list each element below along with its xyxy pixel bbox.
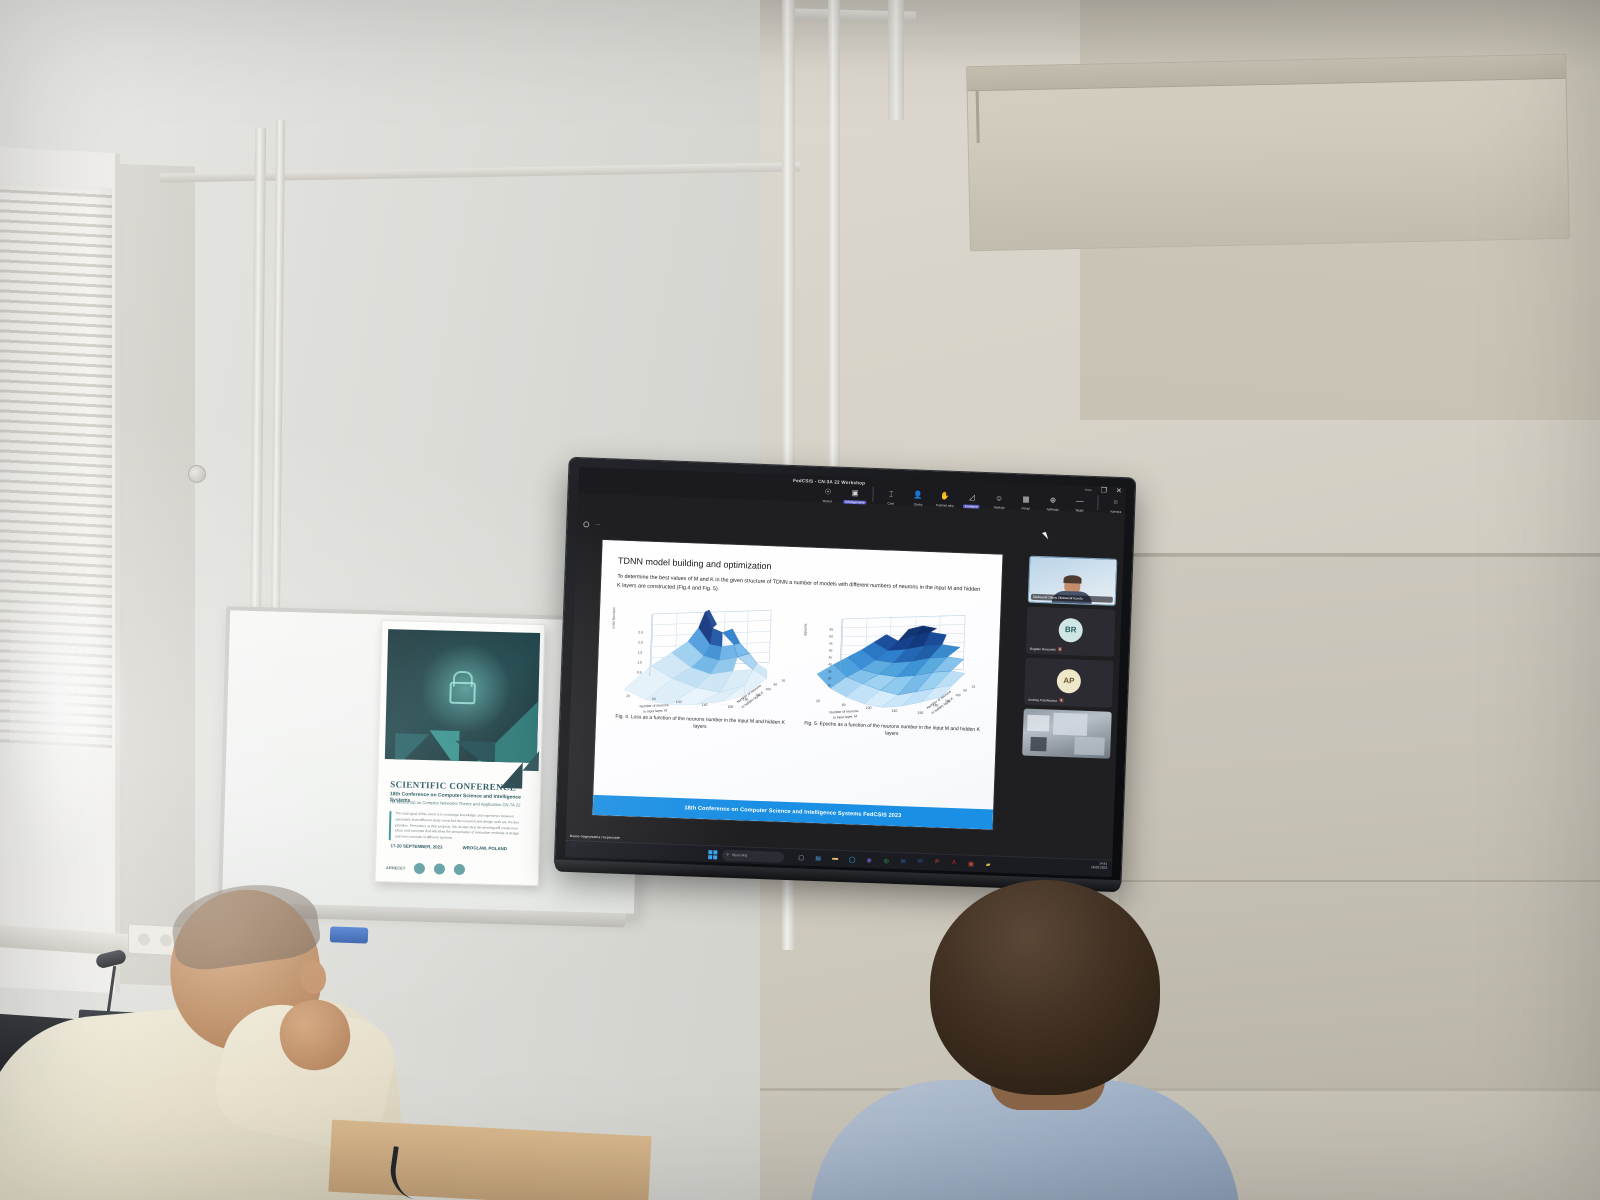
more-icon: ▦ — [1020, 494, 1031, 505]
svg-text:40: 40 — [828, 662, 832, 666]
svg-text:25: 25 — [827, 683, 831, 687]
epochs-surface-svg: 65 60 55 50 45 40 35 30 — [801, 601, 987, 726]
conference-poster: SCIENTIFIC CONFERENCE 18th Conference on… — [375, 620, 546, 886]
participant-name-bar: Bogdan Rusowski 🔇 — [1028, 645, 1112, 655]
svg-text:55: 55 — [829, 641, 833, 645]
participant-rail: Oleksandr Olexiy Oleksandr Kondo BR Bogd… — [1022, 556, 1117, 759]
svg-text:in input layer, M: in input layer, M — [833, 714, 857, 719]
participant-name: Bogdan Rusowski — [1030, 646, 1056, 651]
start-button-icon[interactable] — [708, 850, 717, 859]
wall-seam — [1118, 553, 1600, 556]
participant-tile-4[interactable] — [1022, 709, 1112, 759]
roller-blind-pull-cord — [976, 91, 980, 143]
tv-screen: FedCSIS - CN-3A 22 Workshop — ❐ ✕ ☉ Wyci… — [565, 467, 1126, 877]
poster-triangle — [455, 741, 496, 763]
svg-text:100: 100 — [676, 700, 682, 704]
mic-off-icon: 🔇 — [1057, 647, 1062, 652]
poster-triangle-outer — [523, 751, 540, 771]
folder-icon[interactable]: ▰ — [983, 859, 993, 869]
window-daylight-glow — [10, 600, 130, 860]
chrome-icon[interactable]: ◎ — [881, 855, 891, 865]
participant-name: Andrzej Paszkiewicz — [1028, 697, 1057, 702]
svg-text:60: 60 — [963, 688, 967, 692]
acrobat-icon[interactable]: A — [949, 858, 959, 868]
poster-logo-mark-3 — [434, 863, 445, 874]
notes-icon: — — [1074, 496, 1085, 507]
svg-text:1.0: 1.0 — [637, 660, 642, 664]
apps-icon: ⊕ — [1047, 495, 1058, 506]
person-seated-right — [820, 880, 1240, 1200]
rooms-icon: ◿ — [966, 492, 977, 503]
conduit-box — [888, 0, 904, 120]
lock-icon — [449, 682, 476, 705]
minimize-icon[interactable]: — — [1085, 487, 1092, 494]
svg-text:100: 100 — [765, 687, 771, 691]
poster-body-text: The main goal of this event is to exchan… — [389, 811, 522, 843]
minimize-stage-icon[interactable]: — — [595, 522, 600, 528]
slide-figures: Loss function — [593, 590, 1000, 810]
outlook-icon[interactable]: ✉ — [898, 856, 908, 866]
shared-content-stage: TDNN model building and optimization To … — [593, 540, 1003, 829]
svg-text:60: 60 — [773, 682, 777, 686]
participant-name-bar: Andrzej Paszkiewicz 🔇 — [1026, 696, 1110, 706]
edge-icon[interactable]: ◯ — [847, 854, 857, 864]
svg-text:50: 50 — [829, 648, 833, 652]
svg-text:180: 180 — [918, 711, 924, 715]
poster-date: 17-20 SEPTEMBER, 2023 — [390, 843, 442, 849]
svg-text:100: 100 — [866, 706, 872, 710]
poster-logo-mark-4 — [454, 863, 465, 874]
window-controls: — ❐ ✕ — [1085, 487, 1122, 495]
svg-text:1.5: 1.5 — [638, 650, 643, 654]
poster-logo-mark-2 — [414, 862, 425, 873]
poster-location: WROCŁAW, POLAND — [462, 845, 507, 851]
recording-indicator-icon — [583, 521, 589, 527]
participant-name: Oleksandr Olexiy Oleksandr Kondo — [1033, 595, 1083, 601]
explorer-icon[interactable]: ▬ — [830, 854, 840, 864]
svg-text:60: 60 — [652, 697, 656, 701]
svg-text:65: 65 — [830, 627, 834, 631]
svg-text:180: 180 — [728, 705, 734, 709]
svg-text:2.0: 2.0 — [638, 640, 643, 644]
svg-text:20: 20 — [816, 699, 820, 703]
clock-date: 18.09.2023 — [1091, 865, 1107, 870]
taskbar-clock[interactable]: 14:41 18.09.2023 — [1091, 861, 1107, 870]
camera-icon: ◾ — [1110, 497, 1121, 508]
hand-icon: ✋ — [939, 491, 950, 502]
svg-text:0.5: 0.5 — [637, 670, 642, 674]
widgets-icon[interactable]: ▤ — [813, 853, 823, 863]
avatar: AP — [1056, 668, 1081, 693]
toolbar-separator — [872, 487, 874, 502]
search-placeholder: Wyszukaj — [732, 853, 747, 858]
avatar: BR — [1058, 617, 1083, 642]
reactions-icon: ☺ — [993, 493, 1004, 504]
powerpoint-icon[interactable]: P — [932, 857, 942, 867]
participant-tile-2[interactable]: BR Bogdan Rusowski 🔇 — [1026, 607, 1116, 657]
svg-text:30: 30 — [828, 676, 832, 680]
svg-text:20: 20 — [972, 684, 976, 688]
svg-text:100: 100 — [955, 693, 961, 697]
teams-main-area: — TDNN model building and optimization T… — [565, 493, 1125, 877]
loss-surface-svg: 2.5 2.0 1.5 1.0 0.5 — [609, 594, 795, 719]
teams-icon[interactable]: ◉ — [864, 855, 874, 865]
mic-icon: ☉ — [822, 487, 833, 498]
mic-off-icon: 🔇 — [1059, 698, 1064, 703]
epochs-surface-plot: Epochs — [801, 601, 987, 726]
epochs-axis-label: Epochs — [803, 623, 807, 635]
word-icon[interactable]: W — [915, 857, 925, 867]
meeting-left-indicators: — — [583, 521, 600, 528]
recording-status-text: Demo nagrywania rozpoczęte — [570, 834, 620, 840]
room-video-object — [1074, 736, 1105, 755]
svg-text:35: 35 — [828, 669, 832, 673]
poster-logo-row: ARNECET — [386, 859, 531, 879]
roller-blind — [966, 54, 1570, 252]
wall-mounted-tv: FedCSIS - CN-3A 22 Workshop — ❐ ✕ ☉ Wyci… — [555, 458, 1136, 888]
participant-tile-1[interactable]: Oleksandr Olexiy Oleksandr Kondo — [1028, 556, 1118, 606]
svg-text:60: 60 — [842, 703, 846, 707]
share-icon: ▣ — [849, 488, 860, 499]
svg-text:20: 20 — [782, 678, 786, 682]
loss-axis-label: Loss function — [611, 607, 616, 628]
wall-outlet-round — [188, 465, 206, 483]
teams-meeting-window: FedCSIS - CN-3A 22 Workshop — ❐ ✕ ☉ Wyci… — [565, 467, 1126, 877]
room-video-object — [1027, 715, 1050, 732]
figure-4: Loss function — [603, 594, 798, 802]
pdf-icon[interactable]: ▣ — [966, 859, 976, 869]
poster-artwork — [385, 629, 540, 763]
search-icon: ⚲ — [726, 853, 729, 857]
svg-text:2.5: 2.5 — [638, 630, 643, 634]
svg-text:140: 140 — [892, 709, 898, 713]
chat-icon: ⌶ — [885, 489, 896, 500]
presentation-slide: TDNN model building and optimization To … — [593, 540, 1003, 829]
figure-5: Epochs — [795, 601, 990, 809]
conference-room-photo: SCIENTIFIC CONFERENCE 18th Conference on… — [0, 0, 1600, 1200]
task-view-icon[interactable]: ▢ — [796, 852, 806, 862]
svg-text:20: 20 — [626, 694, 630, 698]
room-video-object — [1053, 713, 1088, 736]
close-icon[interactable]: ✕ — [1116, 488, 1122, 495]
taskbar-search-box[interactable]: ⚲ Wyszukaj — [722, 849, 784, 862]
loss-surface-plot: Loss function — [609, 594, 795, 719]
poster-triangle — [395, 733, 430, 763]
maximize-icon[interactable]: ❐ — [1101, 487, 1108, 494]
svg-text:60: 60 — [829, 634, 833, 638]
svg-text:45: 45 — [828, 655, 832, 659]
participant-tile-3[interactable]: AP Andrzej Paszkiewicz 🔇 — [1024, 658, 1114, 708]
poster-title: SCIENTIFIC CONFERENCE — [390, 779, 516, 792]
room-video-object — [1030, 737, 1047, 752]
poster-logo-1: ARNECET — [386, 865, 405, 871]
svg-text:in input layer, M: in input layer, M — [643, 708, 667, 713]
people-icon: 👤 — [912, 490, 923, 501]
toolbar-separator-2 — [1097, 495, 1099, 510]
svg-text:140: 140 — [702, 703, 708, 707]
person-right-head — [930, 880, 1160, 1095]
